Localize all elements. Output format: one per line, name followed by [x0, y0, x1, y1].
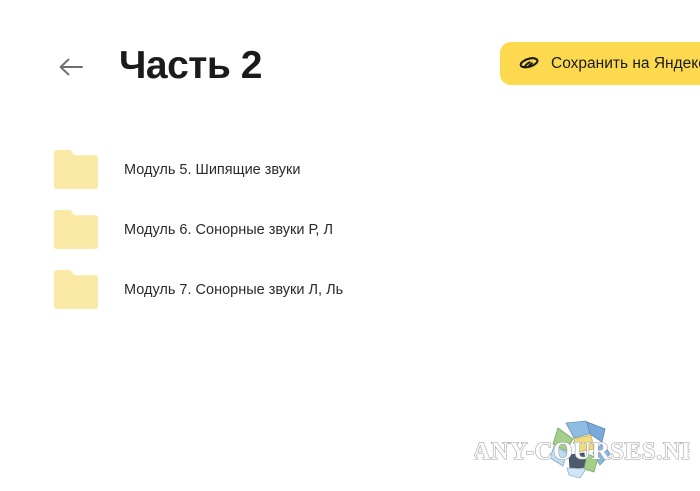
- watermark: MANY-COURSES.NET: [474, 418, 690, 480]
- list-item-label: Модуль 5. Шипящие звуки: [124, 160, 301, 180]
- folder-icon: [52, 148, 100, 191]
- list-item-label: Модуль 7. Сонорные звуки Л, Ль: [124, 280, 343, 300]
- folder-list: Модуль 5. Шипящие звуки Модуль 6. Сонорн…: [0, 140, 700, 320]
- list-item[interactable]: Модуль 7. Сонорные звуки Л, Ль: [0, 260, 700, 320]
- page-title: Часть 2: [119, 40, 262, 92]
- save-to-yandex-disk-button[interactable]: Сохранить на Яндекс: [500, 42, 700, 85]
- page-header: Часть 2 Сохранить на Яндекс: [0, 0, 700, 120]
- yandex-disk-icon: [518, 53, 540, 75]
- back-button[interactable]: [54, 50, 88, 84]
- list-item-label: Модуль 6. Сонорные звуки Р, Л: [124, 220, 333, 240]
- list-item[interactable]: Модуль 6. Сонорные звуки Р, Л: [0, 200, 700, 260]
- arrow-left-icon: [58, 56, 84, 78]
- list-item[interactable]: Модуль 5. Шипящие звуки: [0, 140, 700, 200]
- save-button-label: Сохранить на Яндекс: [551, 54, 700, 74]
- folder-icon: [52, 208, 100, 251]
- folder-icon: [52, 268, 100, 311]
- watermark-text: MANY-COURSES.NET: [474, 438, 690, 465]
- globe-icon: [550, 420, 611, 478]
